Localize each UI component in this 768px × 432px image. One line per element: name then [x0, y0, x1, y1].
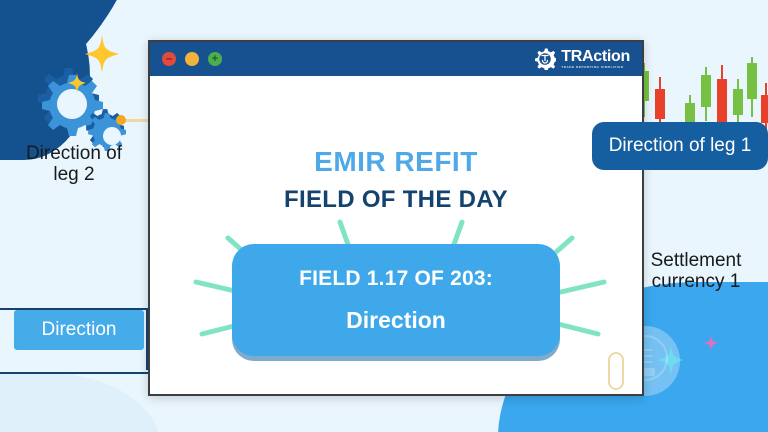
browser-window: – + TRAction TRADE REPORTING SIMPLIFIED	[148, 40, 644, 396]
window-controls: – +	[162, 52, 222, 66]
brand-name: TRAction	[561, 49, 630, 65]
callout-direction: Direction	[14, 310, 144, 350]
callout-settlement-currency-1-line1: Settlement	[651, 250, 742, 271]
connector-dot-left	[116, 115, 126, 125]
field-name-label: Direction	[346, 307, 446, 334]
callout-direction-of-leg-2-line1: Direction of	[26, 143, 122, 164]
page-title: EMIR REFIT FIELD OF THE DAY	[150, 148, 642, 212]
heading-field-of-the-day: FIELD OF THE DAY	[150, 188, 642, 212]
brand-tagline: TRADE REPORTING SIMPLIFIED	[561, 66, 630, 69]
callout-direction-of-leg-1-label: Direction of leg 1	[609, 135, 752, 157]
connector-pill-inner	[608, 352, 624, 390]
window-titlebar: – + TRAction TRADE REPORTING SIMPLIFIED	[150, 42, 642, 76]
brand-text: TRAction TRADE REPORTING SIMPLIFIED	[561, 49, 630, 70]
field-of-the-day-card: FIELD 1.17 OF 203: Direction	[232, 244, 560, 356]
gear-logo-icon	[534, 48, 556, 70]
background-blob-bottom-left	[0, 372, 160, 432]
minimize-button[interactable]	[185, 52, 199, 66]
callout-direction-of-leg-1: Direction of leg 1	[592, 122, 768, 170]
sparkle-icon	[68, 73, 86, 98]
callout-settlement-currency-1-line2: currency 1	[652, 271, 741, 292]
field-number-label: FIELD 1.17 OF 203:	[299, 267, 493, 291]
window-content: EMIR REFIT FIELD OF THE DAY FIELD 1.17 O…	[150, 76, 642, 394]
sparkle-icon	[704, 335, 718, 356]
callout-settlement-currency-1: Settlement currency 1	[624, 251, 768, 293]
sparkle-icon	[85, 35, 119, 78]
callout-direction-of-leg-2-line2: leg 2	[53, 164, 94, 185]
callout-direction-label: Direction	[42, 319, 117, 341]
maximize-button[interactable]: +	[208, 52, 222, 66]
close-button[interactable]: –	[162, 52, 176, 66]
traction-logo: TRAction TRADE REPORTING SIMPLIFIED	[534, 48, 630, 70]
heading-emir-refit: EMIR REFIT	[150, 148, 642, 176]
poster-canvas: – + TRAction TRADE REPORTING SIMPLIFIED	[0, 0, 768, 432]
callout-direction-of-leg-2: Direction of leg 2	[0, 144, 148, 186]
